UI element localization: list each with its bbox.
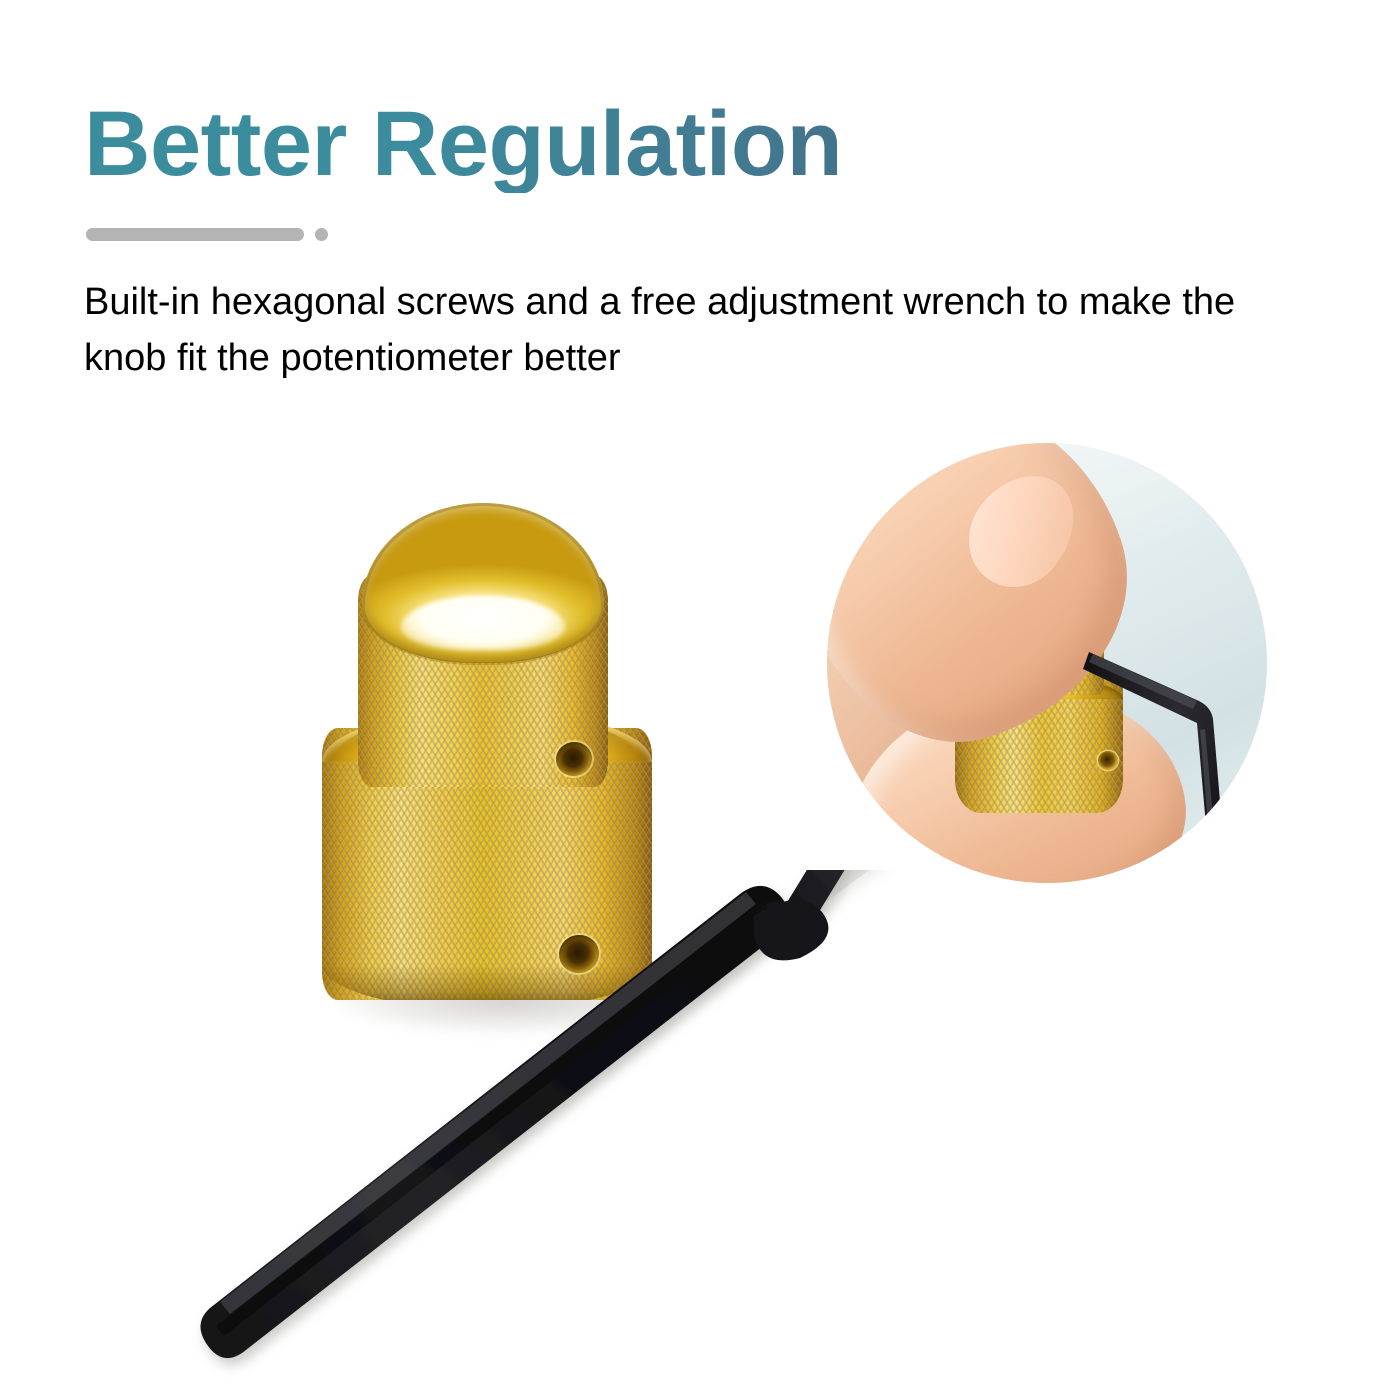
subtitle-text: Built-in hexagonal screws and a free adj… <box>84 274 1314 386</box>
inset-circle-photo <box>827 443 1267 883</box>
wrench-elbow <box>754 900 828 960</box>
inset-wrench-vertical-highlight <box>1200 729 1219 883</box>
header-block: Better Regulation <box>84 96 1324 193</box>
divider-dot <box>315 228 328 241</box>
page-title: Better Regulation <box>84 96 1324 193</box>
divider-bar <box>86 228 304 241</box>
fingernail <box>947 455 1097 607</box>
title-divider <box>86 228 328 241</box>
gold-knob-photo <box>310 495 710 1055</box>
upper-knob-dome-rim <box>362 503 604 665</box>
photo-stage <box>0 400 1400 1400</box>
lower-knob-bottom-shade <box>322 964 652 1000</box>
inset-lower-set-screw-icon <box>1098 751 1118 770</box>
